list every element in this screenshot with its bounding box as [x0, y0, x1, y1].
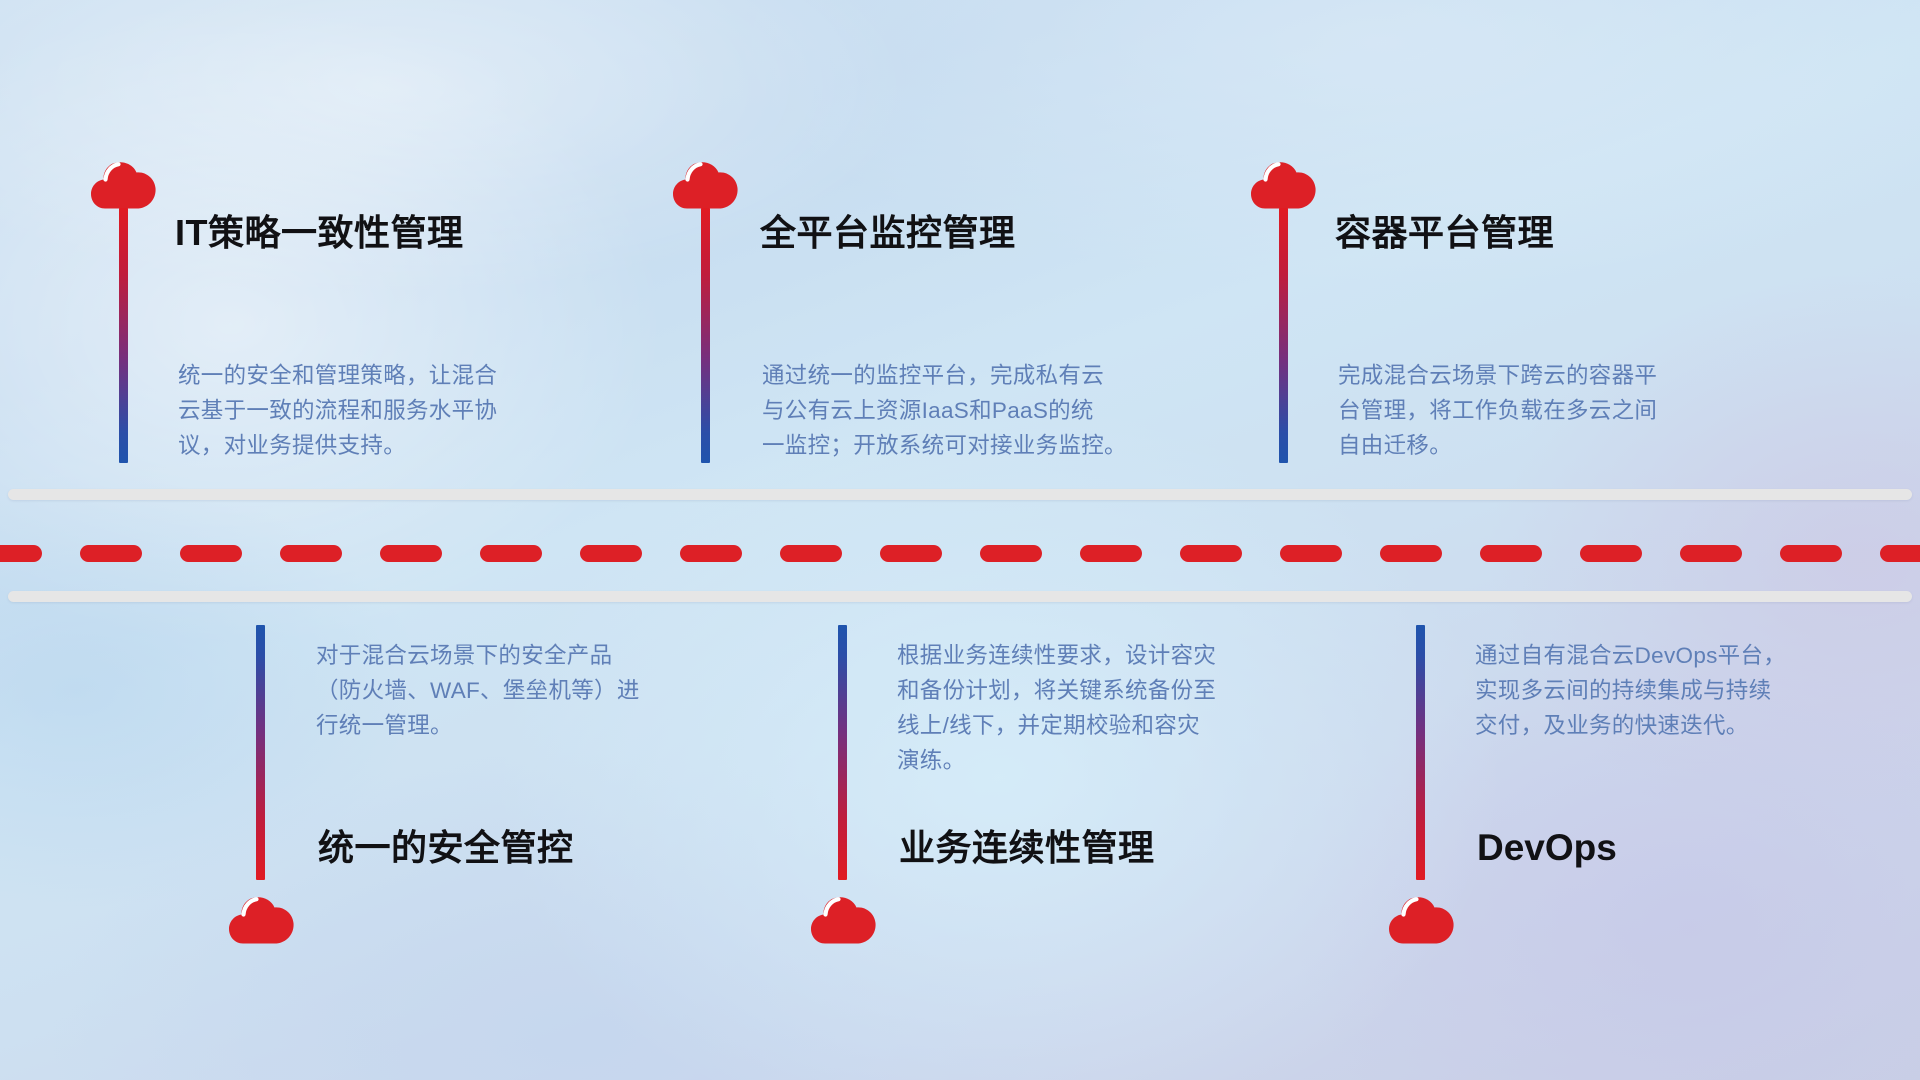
- bottom-heading-2: 业务连续性管理: [899, 828, 1155, 868]
- top-body-1: 统一的安全和管理策略，让混合 云基于一致的流程和服务水平协 议，对业务提供支持。: [178, 358, 598, 463]
- stem-line: [1416, 625, 1425, 880]
- top-heading-1: IT策略一致性管理: [175, 213, 464, 253]
- cloud-icon: [1388, 895, 1456, 947]
- cloud-icon: [810, 895, 878, 947]
- top-body-2: 通过统一的监控平台，完成私有云 与公有云上资源IaaS和PaaS的统 一监控；开…: [762, 358, 1202, 463]
- cloud-icon: [1250, 160, 1318, 212]
- stem-line: [256, 625, 265, 880]
- cloud-icon: [228, 895, 296, 947]
- cloud-icon: [672, 160, 740, 212]
- top-body-3: 完成混合云场景下跨云的容器平 台管理，将工作负载在多云之间 自由迁移。: [1338, 358, 1778, 463]
- stem-line: [119, 208, 128, 463]
- bottom-body-1: 对于混合云场景下的安全产品 （防火墙、WAF、堡垒机等）进 行统一管理。: [316, 638, 746, 743]
- bottom-heading-3: DevOps: [1477, 828, 1617, 869]
- top-heading-3: 容器平台管理: [1335, 213, 1554, 253]
- cloud-icon: [90, 160, 158, 212]
- stem-line: [1279, 208, 1288, 463]
- stem-line: [838, 625, 847, 880]
- stem-line: [701, 208, 710, 463]
- top-heading-2: 全平台监控管理: [760, 213, 1016, 253]
- bottom-body-2: 根据业务连续性要求，设计容灾 和备份计划，将关键系统备份至 线上/线下，并定期校…: [897, 638, 1327, 778]
- bottom-heading-1: 统一的安全管控: [318, 828, 574, 868]
- bottom-body-3: 通过自有混合云DevOps平台， 实现多云间的持续集成与持续 交付，及业务的快速…: [1475, 638, 1905, 743]
